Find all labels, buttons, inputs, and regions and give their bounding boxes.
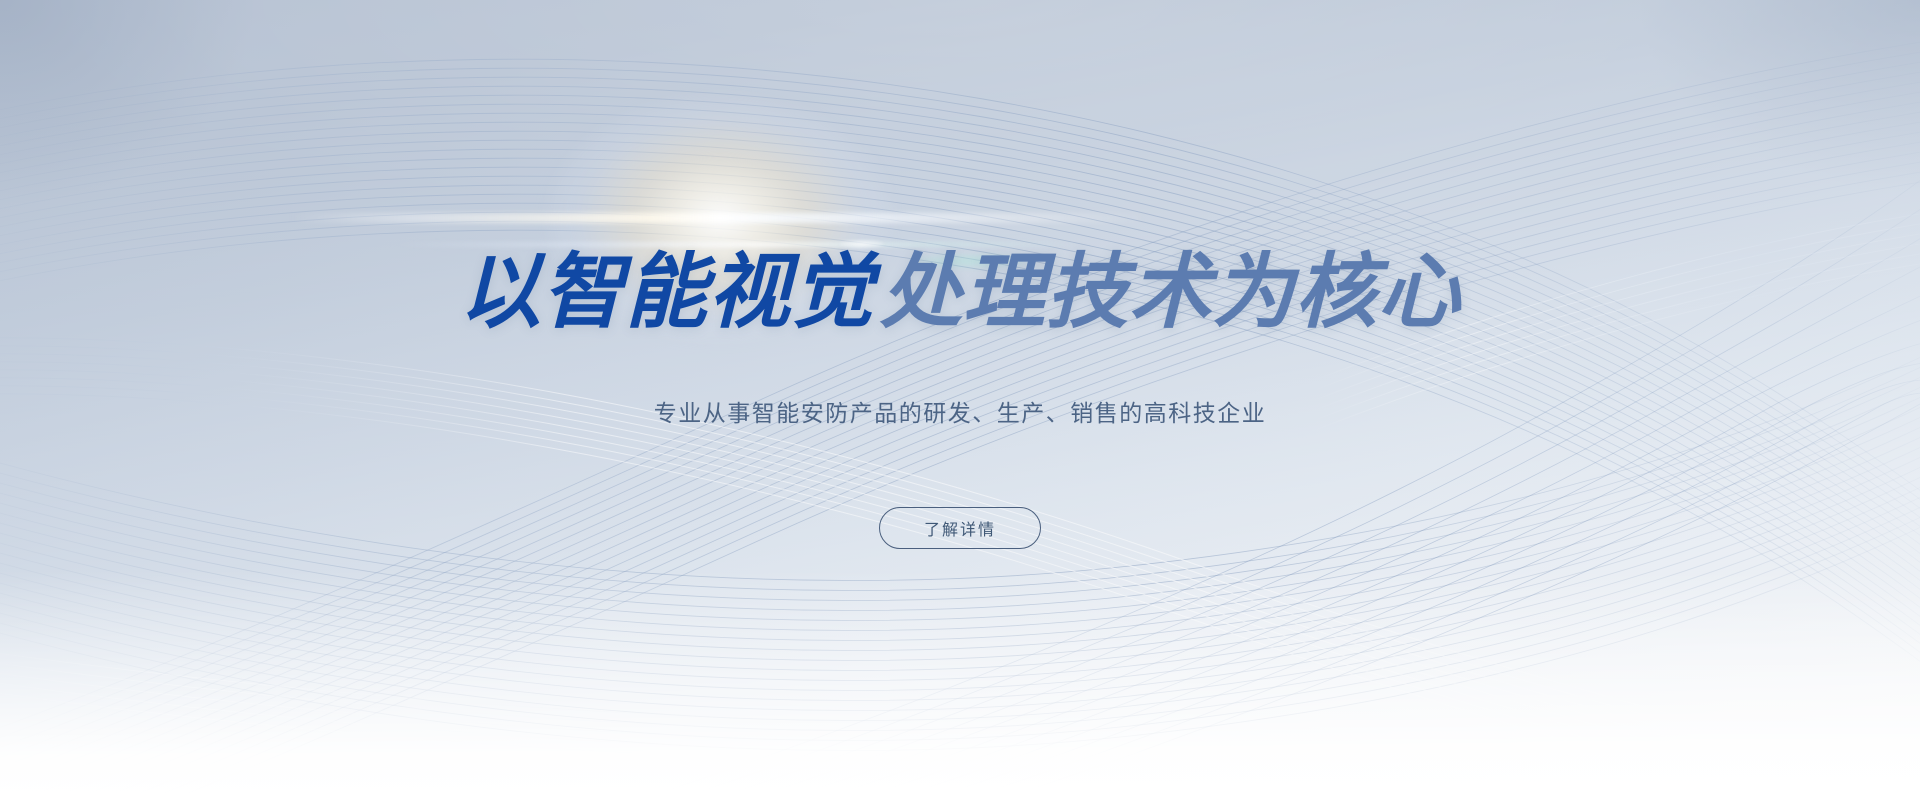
bottom-white-fade	[0, 570, 1920, 800]
wave-band-upper	[0, 59, 1920, 691]
hero-headline: 以智能视觉处理技术为核心	[0, 252, 1920, 334]
learn-more-button[interactable]: 了解详情	[879, 507, 1041, 549]
headline-segment-primary: 以智能视觉	[459, 247, 874, 338]
cta-container: 了解详情	[0, 507, 1920, 549]
flare-horizontal-streak	[290, 213, 1150, 223]
wave-band-bottom-left	[0, 648, 880, 762]
corner-shadow-left	[0, 0, 520, 420]
hero-banner: 以智能视觉处理技术为核心 专业从事智能安防产品的研发、生产、销售的高科技企业 了…	[0, 0, 1920, 800]
hero-subtitle: 专业从事智能安防产品的研发、生产、销售的高科技企业	[0, 396, 1920, 431]
headline-segment-secondary: 处理技术为核心	[880, 247, 1461, 338]
